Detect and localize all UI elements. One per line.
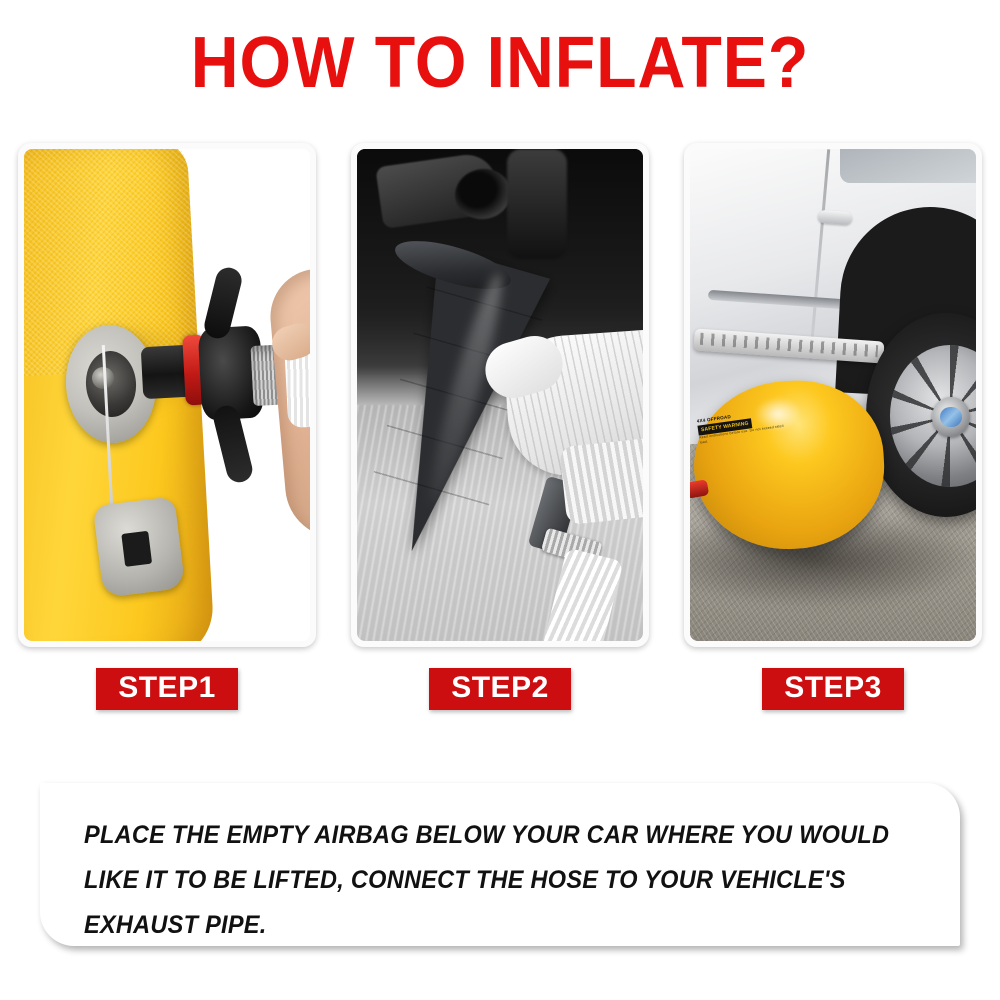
- photo-frame-step2: [351, 143, 649, 647]
- photo-step1-attach-valve: [24, 149, 310, 641]
- caption-line-2: LIKE IT TO BE LIFTED, CONNECT THE HOSE T…: [84, 858, 866, 903]
- caption-card: PLACE THE EMPTY AIRBAG BELOW YOUR CAR WH…: [40, 783, 960, 946]
- step-column-1: STEP1: [12, 143, 322, 710]
- caption-line-3: EXHAUST PIPE.: [84, 903, 866, 948]
- step-column-3: 4X4 OFFROAD SAFETY WARNING Read instruct…: [678, 143, 988, 710]
- page-title: HOW TO INFLATE?: [40, 26, 960, 102]
- photo-step3-lifted-vehicle: 4X4 OFFROAD SAFETY WARNING Read instruct…: [690, 149, 976, 641]
- step-badge-1: STEP1: [96, 668, 238, 710]
- step-badge-3: STEP3: [762, 668, 904, 710]
- undercarriage-part: [507, 149, 567, 259]
- steps-row: STEP1 STE: [12, 143, 988, 710]
- step-column-2: STEP2: [345, 143, 655, 710]
- valve-cap: [93, 496, 186, 597]
- step-badge-2: STEP2: [429, 668, 571, 710]
- glove-cuff: [559, 435, 643, 525]
- photo-frame-step3: 4X4 OFFROAD SAFETY WARNING Read instruct…: [684, 143, 982, 647]
- photo-frame-step1: [18, 143, 316, 647]
- suv-door-handle: [818, 210, 853, 225]
- suv-window: [840, 149, 976, 183]
- airbag-warning-label: 4X4 OFFROAD SAFETY WARNING Read instruct…: [696, 405, 799, 505]
- caption-line-1: PLACE THE EMPTY AIRBAG BELOW YOUR CAR WH…: [84, 813, 866, 858]
- photo-step2-exhaust-cone: [357, 149, 643, 641]
- wheel-hub-emblem: [932, 397, 970, 437]
